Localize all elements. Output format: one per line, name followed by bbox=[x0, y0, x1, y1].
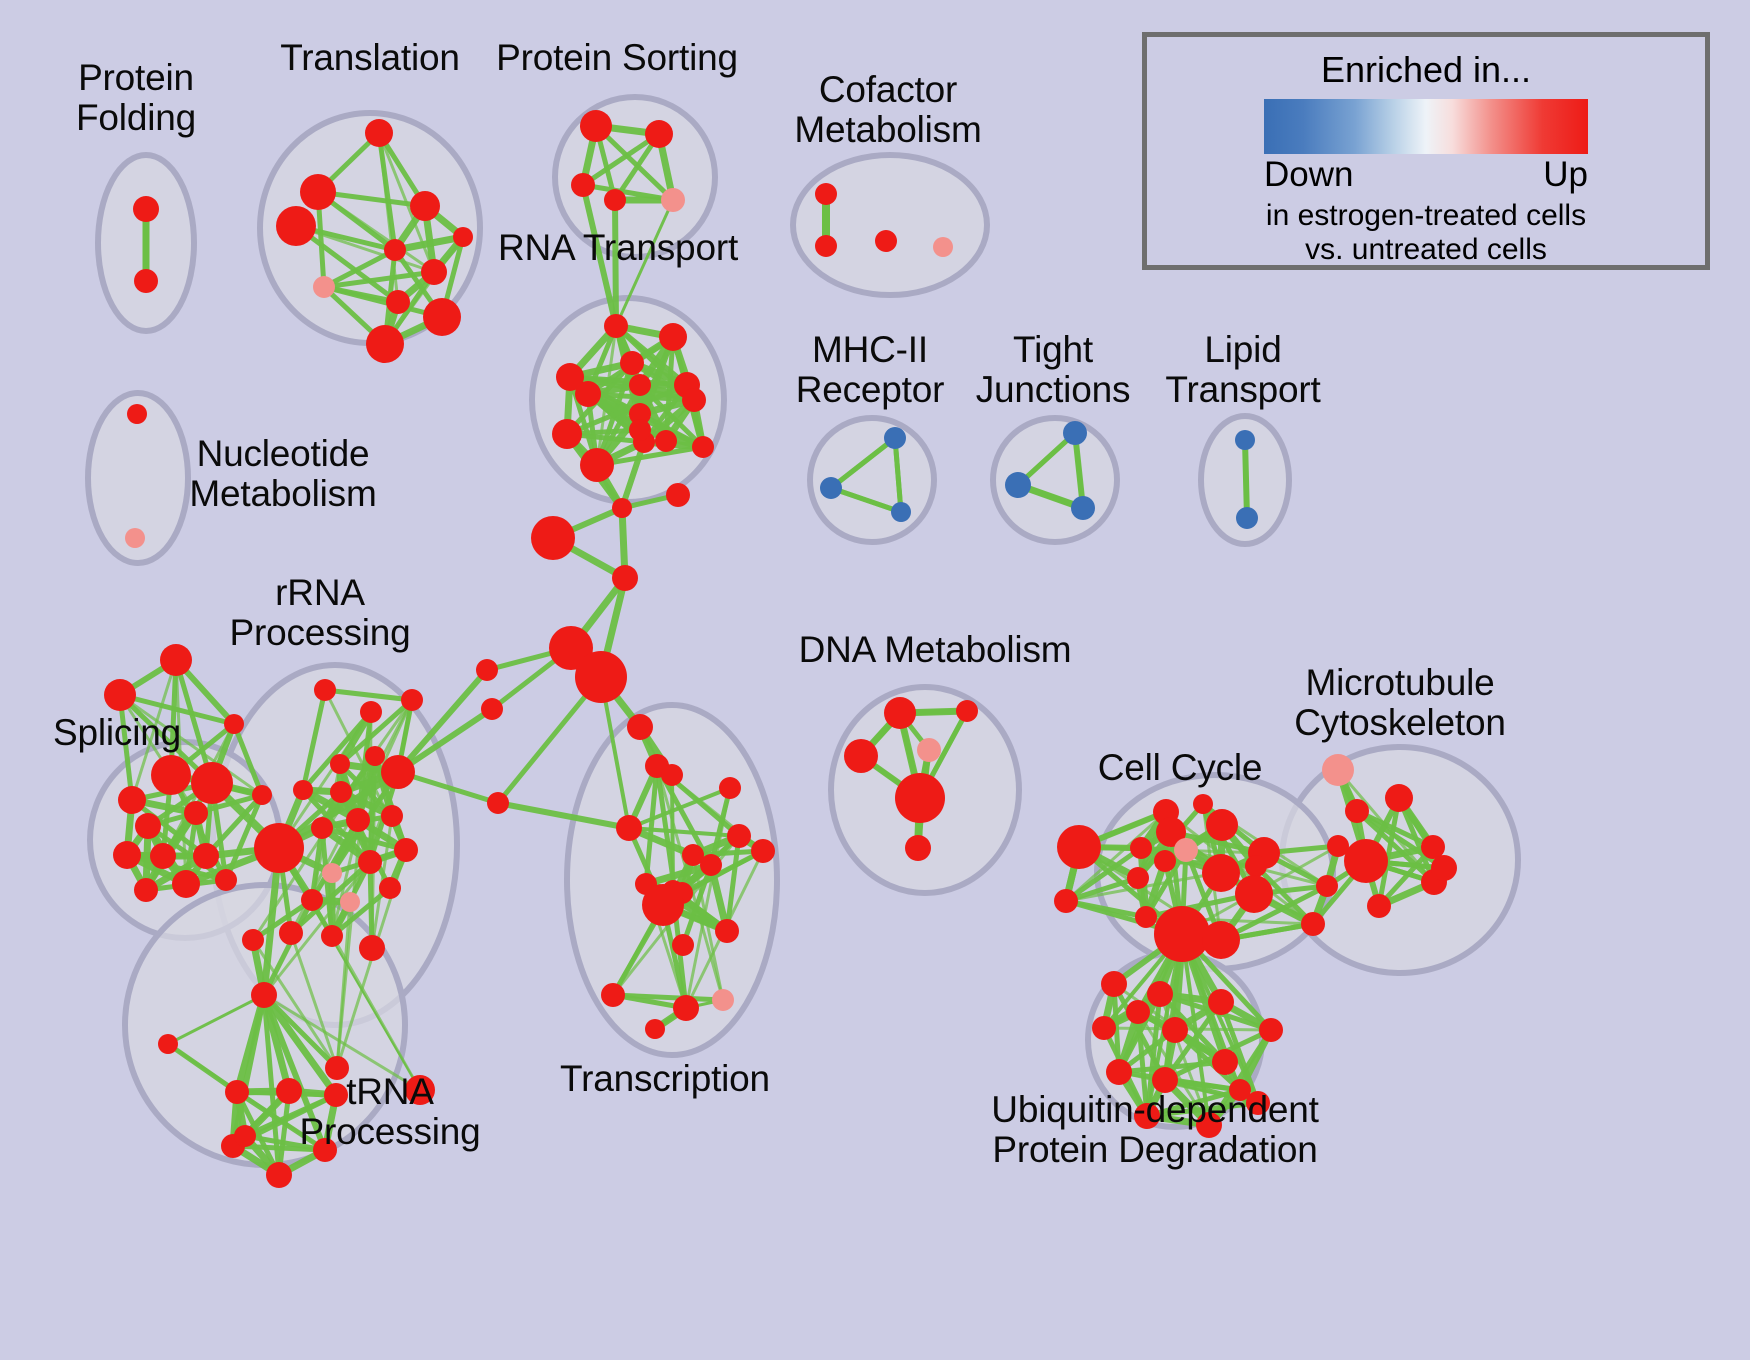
network-node[interactable] bbox=[1193, 794, 1213, 814]
network-node[interactable] bbox=[359, 935, 385, 961]
network-node[interactable] bbox=[1259, 1018, 1283, 1042]
network-node[interactable] bbox=[629, 374, 651, 396]
cluster-label-line: RNA Transport bbox=[498, 228, 738, 268]
network-node[interactable] bbox=[1092, 1016, 1116, 1040]
network-node[interactable] bbox=[531, 516, 575, 560]
network-node[interactable] bbox=[1236, 507, 1258, 529]
cluster-label-line: Transport bbox=[1165, 370, 1320, 410]
network-node[interactable] bbox=[661, 188, 685, 212]
cluster-label-line: Ubiquitin-dependent bbox=[991, 1090, 1318, 1130]
network-node[interactable] bbox=[844, 739, 878, 773]
cluster-label-line: Processing bbox=[229, 613, 410, 653]
cluster-label-line: Processing bbox=[299, 1112, 480, 1152]
network-node[interactable] bbox=[1316, 875, 1338, 897]
network-node[interactable] bbox=[300, 174, 336, 210]
network-node[interactable] bbox=[453, 227, 473, 247]
network-node[interactable] bbox=[933, 237, 953, 257]
network-node[interactable] bbox=[225, 1080, 249, 1104]
network-node[interactable] bbox=[234, 1125, 256, 1147]
network-node[interactable] bbox=[313, 276, 335, 298]
cluster-label-line: Nucleotide bbox=[189, 434, 376, 474]
cluster-label-rrna-processing: rRNAProcessing bbox=[229, 573, 410, 652]
network-node[interactable] bbox=[276, 206, 316, 246]
network-node[interactable] bbox=[1174, 838, 1198, 862]
network-node[interactable] bbox=[133, 196, 159, 222]
cluster-label-line: DNA Metabolism bbox=[799, 630, 1072, 670]
network-node[interactable] bbox=[346, 808, 370, 832]
network-node[interactable] bbox=[1057, 825, 1101, 869]
network-node[interactable] bbox=[659, 323, 687, 351]
cluster-label-ubiquitin-protein-degradation: Ubiquitin-dependentProtein Degradation bbox=[991, 1090, 1318, 1169]
cluster-label-line: Folding bbox=[76, 98, 196, 138]
legend-title: Enriched in... bbox=[1321, 49, 1531, 91]
cluster-label-line: Protein Degradation bbox=[991, 1130, 1318, 1170]
network-node[interactable] bbox=[1235, 875, 1273, 913]
network-node[interactable] bbox=[254, 823, 304, 873]
network-node[interactable] bbox=[487, 792, 509, 814]
network-node[interactable] bbox=[322, 863, 342, 883]
network-node[interactable] bbox=[891, 502, 911, 522]
cluster-label-line: Transcription bbox=[560, 1059, 770, 1099]
network-node[interactable] bbox=[301, 889, 323, 911]
network-node[interactable] bbox=[340, 892, 360, 912]
legend-endpoints: Down Up bbox=[1264, 155, 1588, 195]
network-node[interactable] bbox=[580, 110, 612, 142]
network-node[interactable] bbox=[1431, 855, 1457, 881]
network-node[interactable] bbox=[127, 404, 147, 424]
network-node[interactable] bbox=[1235, 430, 1255, 450]
cluster-label-microtubule-cytoskeleton: MicrotubuleCytoskeleton bbox=[1294, 663, 1506, 742]
network-node[interactable] bbox=[1212, 1049, 1238, 1075]
network-node[interactable] bbox=[642, 884, 684, 926]
network-node[interactable] bbox=[575, 651, 627, 703]
legend-caption-line1: in estrogen-treated cells bbox=[1266, 199, 1586, 233]
network-node[interactable] bbox=[321, 925, 343, 947]
network-node[interactable] bbox=[666, 483, 690, 507]
cluster-label-transcription: Transcription bbox=[560, 1059, 770, 1099]
network-node[interactable] bbox=[620, 351, 644, 375]
network-node[interactable] bbox=[215, 869, 237, 891]
network-node[interactable] bbox=[1135, 906, 1157, 928]
network-node[interactable] bbox=[184, 801, 208, 825]
network-node[interactable] bbox=[251, 982, 277, 1008]
network-node[interactable] bbox=[151, 755, 191, 795]
network-node[interactable] bbox=[360, 701, 382, 723]
cluster-label-line: Receptor bbox=[796, 370, 945, 410]
network-node[interactable] bbox=[815, 183, 837, 205]
network-node[interactable] bbox=[692, 436, 714, 458]
network-node[interactable] bbox=[384, 239, 406, 261]
legend-gradient-wrap bbox=[1264, 99, 1588, 154]
network-node[interactable] bbox=[1005, 472, 1031, 498]
cluster-label-lipid-transport: LipidTransport bbox=[1165, 330, 1320, 409]
network-node[interactable] bbox=[118, 786, 146, 814]
enrichment-map-figure: ProteinFoldingTranslationProtein Sorting… bbox=[0, 0, 1750, 1360]
cluster-label-line: Splicing bbox=[53, 713, 181, 753]
network-node[interactable] bbox=[134, 269, 158, 293]
network-node[interactable] bbox=[1154, 906, 1210, 962]
cluster-label-line: Tight bbox=[976, 330, 1131, 370]
network-node[interactable] bbox=[104, 679, 136, 711]
network-node[interactable] bbox=[1206, 809, 1238, 841]
network-node[interactable] bbox=[1106, 1059, 1132, 1085]
network-node[interactable] bbox=[1162, 1017, 1188, 1043]
network-node[interactable] bbox=[224, 714, 244, 734]
network-node[interactable] bbox=[682, 388, 706, 412]
network-node[interactable] bbox=[1345, 799, 1369, 823]
network-node[interactable] bbox=[1301, 912, 1325, 936]
network-node[interactable] bbox=[645, 1019, 665, 1039]
network-node[interactable] bbox=[1344, 839, 1388, 883]
cluster-label-trna-processing: tRNAProcessing bbox=[299, 1072, 480, 1151]
network-node[interactable] bbox=[134, 878, 158, 902]
network-node[interactable] bbox=[1147, 981, 1173, 1007]
network-node[interactable] bbox=[366, 325, 404, 363]
network-edge bbox=[1245, 440, 1247, 518]
network-node[interactable] bbox=[1127, 867, 1149, 889]
network-node[interactable] bbox=[125, 528, 145, 548]
cluster-label-cell-cycle: Cell Cycle bbox=[1098, 748, 1263, 788]
network-node[interactable] bbox=[612, 565, 638, 591]
network-node[interactable] bbox=[661, 764, 683, 786]
network-node[interactable] bbox=[672, 934, 694, 956]
cluster-label-tight-junctions: TightJunctions bbox=[976, 330, 1131, 409]
network-node[interactable] bbox=[884, 697, 916, 729]
network-node[interactable] bbox=[314, 679, 336, 701]
network-node[interactable] bbox=[421, 259, 447, 285]
network-node[interactable] bbox=[381, 755, 415, 789]
network-node[interactable] bbox=[875, 230, 897, 252]
cluster-label-nucleotide-metabolism: NucleotideMetabolism bbox=[189, 434, 376, 513]
network-node[interactable] bbox=[1063, 421, 1087, 445]
network-node[interactable] bbox=[1202, 921, 1240, 959]
cluster-label-line: Metabolism bbox=[189, 474, 376, 514]
network-node[interactable] bbox=[279, 921, 303, 945]
network-node[interactable] bbox=[160, 644, 192, 676]
network-node[interactable] bbox=[1245, 855, 1267, 877]
legend-caption-line2: vs. untreated cells bbox=[1266, 233, 1586, 267]
cluster-label-line: Microtubule bbox=[1294, 663, 1506, 703]
network-node[interactable] bbox=[571, 173, 595, 197]
network-node[interactable] bbox=[616, 815, 642, 841]
cluster-label-mhc-ii-receptor: MHC-IIReceptor bbox=[796, 330, 945, 409]
network-node[interactable] bbox=[1202, 854, 1240, 892]
network-node[interactable] bbox=[905, 835, 931, 861]
network-node[interactable] bbox=[627, 714, 653, 740]
network-node[interactable] bbox=[629, 419, 651, 441]
network-node[interactable] bbox=[394, 838, 418, 862]
cluster-label-line: Translation bbox=[280, 38, 459, 78]
cluster-label-line: Cell Cycle bbox=[1098, 748, 1263, 788]
network-node[interactable] bbox=[917, 738, 941, 762]
network-node[interactable] bbox=[552, 419, 582, 449]
legend-high-label: Up bbox=[1543, 155, 1588, 195]
legend-color-gradient bbox=[1264, 99, 1588, 154]
network-node[interactable] bbox=[266, 1162, 292, 1188]
network-node[interactable] bbox=[293, 780, 313, 800]
cluster-label-protein-folding: ProteinFolding bbox=[76, 58, 196, 137]
cluster-label-line: Cytoskeleton bbox=[1294, 703, 1506, 743]
legend-panel: Enriched in... Down Up in estrogen-treat… bbox=[1142, 32, 1710, 270]
cluster-label-rna-transport: RNA Transport bbox=[498, 228, 738, 268]
network-node[interactable] bbox=[601, 983, 625, 1007]
network-node[interactable] bbox=[135, 813, 161, 839]
network-node[interactable] bbox=[358, 850, 382, 874]
network-node[interactable] bbox=[604, 189, 626, 211]
cluster-label-translation: Translation bbox=[280, 38, 459, 78]
network-node[interactable] bbox=[645, 120, 673, 148]
network-node[interactable] bbox=[1322, 754, 1354, 786]
network-node[interactable] bbox=[575, 381, 601, 407]
network-node[interactable] bbox=[365, 746, 385, 766]
network-node[interactable] bbox=[1101, 971, 1127, 997]
network-node[interactable] bbox=[311, 817, 333, 839]
network-node[interactable] bbox=[956, 700, 978, 722]
network-node[interactable] bbox=[604, 314, 628, 338]
network-node[interactable] bbox=[1385, 784, 1413, 812]
network-node[interactable] bbox=[113, 841, 141, 869]
network-node[interactable] bbox=[158, 1034, 178, 1054]
network-node[interactable] bbox=[673, 995, 699, 1021]
cluster-label-dna-metabolism: DNA Metabolism bbox=[799, 630, 1072, 670]
network-node[interactable] bbox=[712, 989, 734, 1011]
network-node[interactable] bbox=[820, 477, 842, 499]
network-node[interactable] bbox=[330, 781, 352, 803]
cluster-label-line: tRNA bbox=[299, 1072, 480, 1112]
network-node[interactable] bbox=[252, 785, 272, 805]
cluster-label-protein-sorting: Protein Sorting bbox=[496, 38, 738, 78]
network-node[interactable] bbox=[242, 929, 264, 951]
cluster-label-line: rRNA bbox=[229, 573, 410, 613]
network-node[interactable] bbox=[1130, 837, 1152, 859]
network-node[interactable] bbox=[580, 448, 614, 482]
network-node[interactable] bbox=[1126, 1000, 1150, 1024]
network-node[interactable] bbox=[727, 824, 751, 848]
cluster-label-splicing: Splicing bbox=[53, 713, 181, 753]
cluster-label-line: Junctions bbox=[976, 370, 1131, 410]
cluster-label-line: Lipid bbox=[1165, 330, 1320, 370]
network-node[interactable] bbox=[715, 919, 739, 943]
network-node[interactable] bbox=[330, 754, 350, 774]
network-node[interactable] bbox=[381, 805, 403, 827]
legend-caption: in estrogen-treated cells vs. untreated … bbox=[1266, 199, 1586, 266]
network-node[interactable] bbox=[401, 689, 423, 711]
network-node[interactable] bbox=[481, 698, 503, 720]
network-node[interactable] bbox=[191, 762, 233, 804]
network-node[interactable] bbox=[1054, 889, 1078, 913]
cluster-label-line: MHC-II bbox=[796, 330, 945, 370]
network-node[interactable] bbox=[410, 191, 440, 221]
network-node[interactable] bbox=[150, 843, 176, 869]
legend-low-label: Down bbox=[1264, 155, 1353, 195]
network-node[interactable] bbox=[276, 1078, 302, 1104]
cluster-label-line: Protein Sorting bbox=[496, 38, 738, 78]
network-node[interactable] bbox=[1071, 496, 1095, 520]
cluster-label-line: Cofactor bbox=[794, 70, 981, 110]
cluster-label-line: Protein bbox=[76, 58, 196, 98]
network-node[interactable] bbox=[476, 659, 498, 681]
network-node[interactable] bbox=[193, 843, 219, 869]
network-node[interactable] bbox=[1208, 989, 1234, 1015]
network-node[interactable] bbox=[365, 119, 393, 147]
network-node[interactable] bbox=[379, 877, 401, 899]
network-node[interactable] bbox=[1367, 894, 1391, 918]
network-node[interactable] bbox=[423, 298, 461, 336]
network-node[interactable] bbox=[1154, 850, 1176, 872]
network-node[interactable] bbox=[884, 427, 906, 449]
network-node[interactable] bbox=[751, 839, 775, 863]
network-node[interactable] bbox=[719, 777, 741, 799]
network-node[interactable] bbox=[700, 854, 722, 876]
network-node[interactable] bbox=[386, 290, 410, 314]
cluster-label-cofactor-metabolism: CofactorMetabolism bbox=[794, 70, 981, 149]
network-node[interactable] bbox=[815, 235, 837, 257]
cluster-label-line: Metabolism bbox=[794, 110, 981, 150]
network-node[interactable] bbox=[895, 773, 945, 823]
network-node[interactable] bbox=[612, 498, 632, 518]
network-node[interactable] bbox=[655, 430, 677, 452]
network-node[interactable] bbox=[172, 870, 200, 898]
